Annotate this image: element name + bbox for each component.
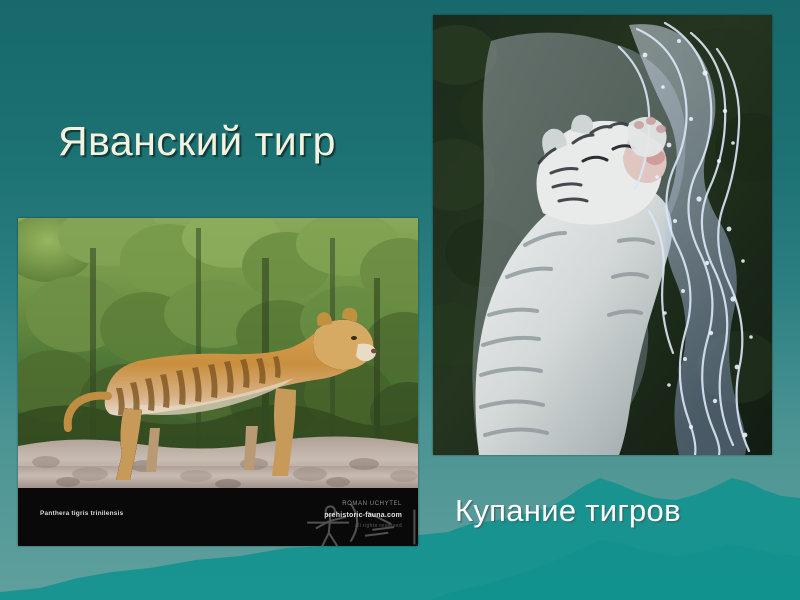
page-title: Яванский тигр [58,118,336,165]
credit-subtext: all rights reserved [355,523,402,529]
photo-tiger-bathing[interactable] [433,15,772,455]
photo-caption: Купание тигров [455,493,681,529]
photo-tiger-walking[interactable]: Panthera tigris trinilensis ROMAN UCHYTE… [18,218,418,546]
tiger-bathing-illustration [433,15,772,455]
credit-author-name: ROMAN UCHYTEL [342,501,402,507]
slide-canvas: Panthera tigris trinilensis ROMAN UCHYTE… [0,0,800,600]
credit-website: prehistoric-fauna.com [324,512,402,519]
photo-credit-bar: Panthera tigris trinilensis ROMAN UCHYTE… [18,488,418,546]
credit-species-name: Panthera tigris trinilensis [40,510,123,517]
